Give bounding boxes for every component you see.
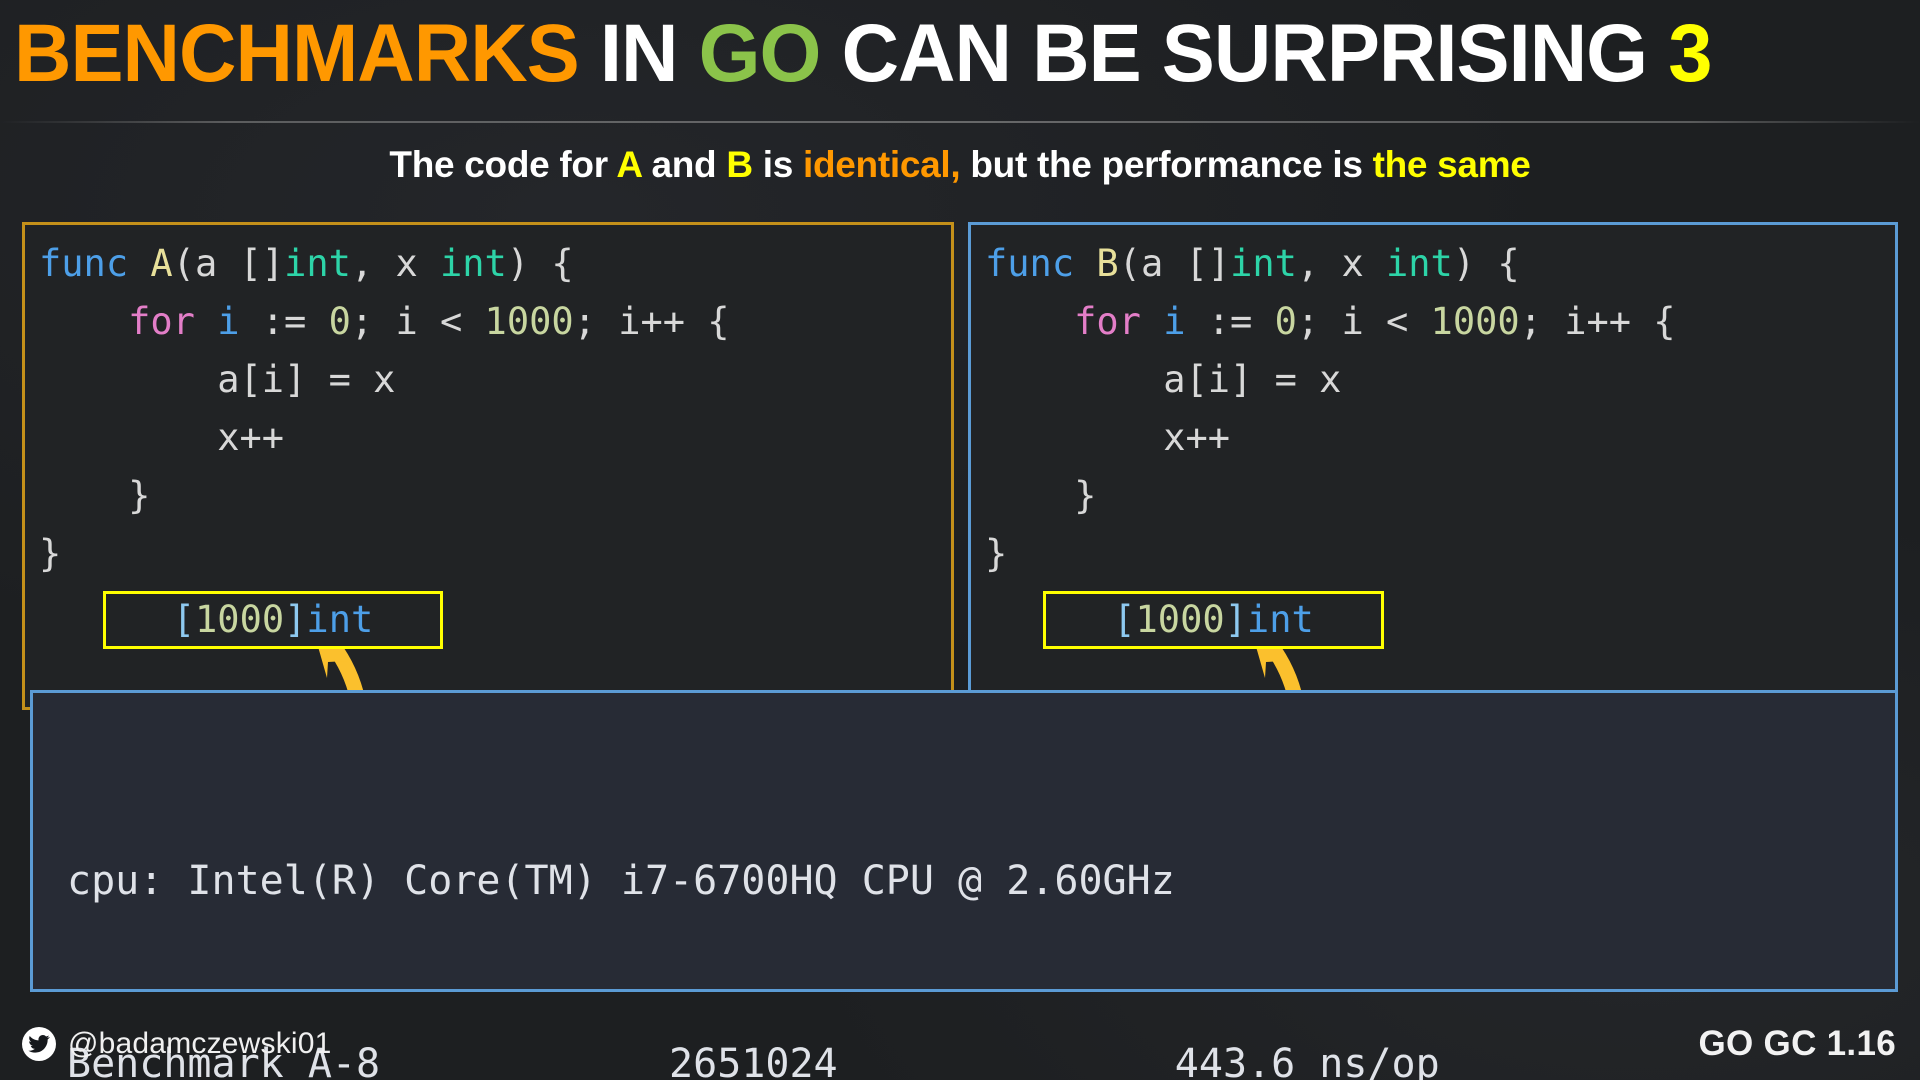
code-token: ; i < <box>1297 300 1431 343</box>
code-token: 1000 <box>485 300 574 343</box>
code-token: := <box>240 300 329 343</box>
type-tag-b: [1000]int <box>1043 591 1384 649</box>
code-token: i <box>1163 300 1185 343</box>
benchmark-cpu-line: cpu: Intel(R) Core(TM) i7-6700HQ CPU @ 2… <box>67 851 1440 912</box>
code-token: := <box>1186 300 1275 343</box>
code-token: A <box>150 242 172 285</box>
code-token: int <box>1230 242 1297 285</box>
go-version-label: GO GC 1.16 <box>1698 1024 1896 1064</box>
code-token: } <box>985 532 1007 575</box>
code-block-b: func B(a []int, x int) { for i := 0; i <… <box>985 235 1676 583</box>
title-word-go: GO <box>699 8 821 99</box>
code-panel-a: func A(a []int, x int) { for i := 0; i <… <box>22 222 954 710</box>
code-token: } <box>39 474 150 517</box>
code-token <box>985 300 1074 343</box>
tag-b-bracket-close: ] <box>1225 591 1247 649</box>
title-word-benchmarks: BENCHMARKS <box>14 8 579 99</box>
code-block-a: func A(a []int, x int) { for i := 0; i <… <box>39 235 730 583</box>
code-panel-b: func B(a []int, x int) { for i := 0; i <… <box>968 222 1898 710</box>
twitter-bird-icon[interactable] <box>22 1027 56 1061</box>
tag-a-number: 1000 <box>195 591 284 649</box>
code-token: , x <box>1297 242 1386 285</box>
twitter-handle: @badamczewski01 <box>68 1027 332 1061</box>
code-token: a[i] = x <box>985 358 1341 401</box>
subtitle-seg-4: but the performance is <box>960 144 1372 185</box>
title-word-in: IN <box>579 8 699 99</box>
code-token: i <box>217 300 239 343</box>
title-bar: BENCHMARKS IN GO CAN BE SURPRISING 3 <box>0 0 1920 122</box>
code-token: func <box>39 242 150 285</box>
tag-a-bracket-open: [ <box>173 591 195 649</box>
code-token: } <box>39 532 61 575</box>
code-token: 0 <box>329 300 351 343</box>
subtitle-label-b: B <box>726 144 752 185</box>
page-title: BENCHMARKS IN GO CAN BE SURPRISING 3 <box>14 8 1857 100</box>
code-token: 1000 <box>1431 300 1520 343</box>
subtitle-seg-1: The code for <box>389 144 616 185</box>
code-token: x++ <box>985 416 1230 459</box>
code-token: for <box>128 300 195 343</box>
tag-b-number: 1000 <box>1136 591 1225 649</box>
code-token: } <box>985 474 1096 517</box>
title-divider <box>0 121 1920 123</box>
benchmark-results-panel: cpu: Intel(R) Core(TM) i7-6700HQ CPU @ 2… <box>30 690 1898 992</box>
type-tag-a: [1000]int <box>103 591 443 649</box>
code-token: ; i++ { <box>1520 300 1676 343</box>
code-token: 0 <box>1275 300 1297 343</box>
code-token: ) { <box>507 242 574 285</box>
code-token: , x <box>351 242 440 285</box>
tag-a-bracket-close: ] <box>284 591 306 649</box>
tag-b-type: int <box>1247 591 1314 649</box>
code-token: for <box>1074 300 1141 343</box>
code-token <box>39 300 128 343</box>
tag-b-bracket-open: [ <box>1113 591 1135 649</box>
code-token: int <box>1386 242 1453 285</box>
subtitle-seg-2: and <box>641 144 726 185</box>
code-token: x++ <box>39 416 284 459</box>
subtitle-label-a: A <box>616 144 641 185</box>
title-word-rest: CAN BE SURPRISING <box>820 8 1668 99</box>
code-token: ) { <box>1453 242 1520 285</box>
title-slide-number: 3 <box>1668 8 1711 99</box>
subtitle-emphasis-identical: identical, <box>803 144 960 185</box>
code-token <box>1141 300 1163 343</box>
code-token: func <box>985 242 1096 285</box>
code-token: ; i < <box>351 300 485 343</box>
subtitle-emphasis-the-same: the same <box>1373 144 1531 185</box>
code-token: a[i] = x <box>39 358 395 401</box>
code-token: (a [] <box>173 242 284 285</box>
subtitle: The code for A and B is identical, but t… <box>0 140 1920 190</box>
code-token: ; i++ { <box>574 300 730 343</box>
subtitle-seg-3: is <box>753 144 803 185</box>
code-token: int <box>284 242 351 285</box>
code-token <box>195 300 217 343</box>
code-token: B <box>1096 242 1118 285</box>
tag-a-type: int <box>306 591 373 649</box>
slide-root: BENCHMARKS IN GO CAN BE SURPRISING 3 The… <box>0 0 1920 1080</box>
code-token: int <box>440 242 507 285</box>
code-token: (a [] <box>1119 242 1230 285</box>
footer-left: @badamczewski01 <box>22 1027 332 1061</box>
